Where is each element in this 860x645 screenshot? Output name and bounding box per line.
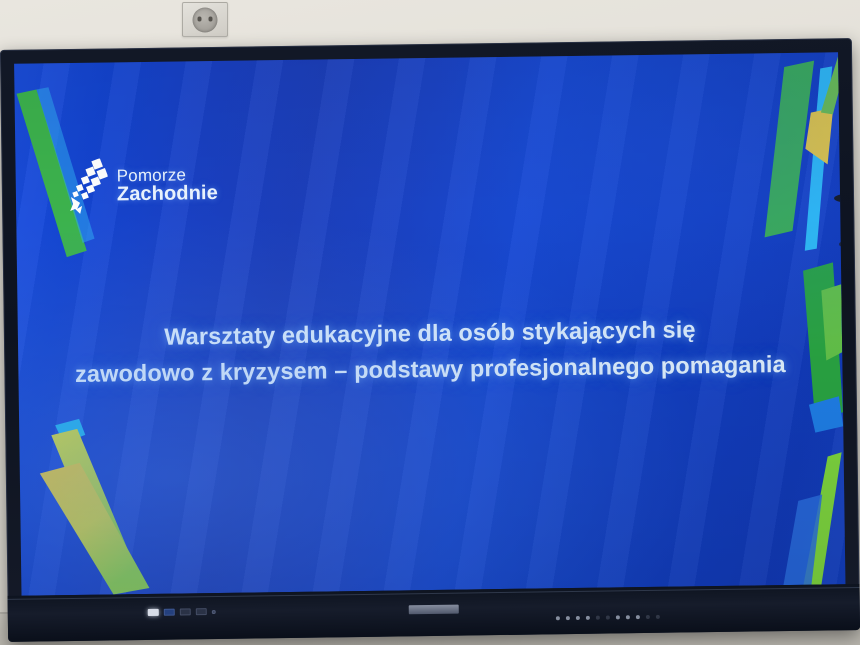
usb-port-icon-2[interactable] bbox=[180, 608, 191, 615]
accent-bottom-right bbox=[782, 452, 844, 585]
accent-bottom-left bbox=[39, 418, 149, 595]
display-led-indicator-row bbox=[556, 615, 660, 620]
outlet-pin-right bbox=[209, 16, 213, 21]
stripe-cyan-bottomleft bbox=[55, 419, 85, 443]
stripe-green-topright bbox=[762, 61, 816, 238]
display-brand-plate bbox=[409, 605, 459, 615]
stripe-yellowgreen-narrow bbox=[51, 428, 141, 591]
outlet-socket-hole bbox=[193, 7, 218, 32]
display-screen[interactable]: Pomorze Zachodnie Warsztaty edukacyjne d… bbox=[14, 52, 845, 595]
display-port-cluster[interactable] bbox=[148, 608, 216, 616]
usb-port-icon[interactable] bbox=[148, 609, 159, 616]
led-indicator bbox=[556, 616, 560, 620]
led-indicator bbox=[586, 616, 590, 620]
led-indicator bbox=[616, 615, 620, 619]
stripe-green-bottomright bbox=[802, 452, 844, 585]
led-indicator bbox=[656, 615, 660, 619]
led-indicator bbox=[646, 615, 650, 619]
logo-wordmark: Pomorze Zachodnie bbox=[117, 166, 218, 205]
wall-power-outlet bbox=[182, 2, 228, 37]
outlet-pin-left bbox=[198, 16, 202, 21]
led-indicator bbox=[626, 615, 630, 619]
led-indicator bbox=[606, 616, 610, 620]
logo-pomorze-zachodnie: Pomorze Zachodnie bbox=[67, 157, 218, 215]
stripe-yellow-topright bbox=[804, 58, 839, 164]
usb-port-icon-3[interactable] bbox=[196, 608, 207, 615]
logo-line-zachodnie: Zachodnie bbox=[117, 183, 218, 205]
hdmi-port-icon[interactable] bbox=[164, 609, 175, 616]
stripe-yellow-wide bbox=[40, 462, 150, 595]
led-indicator bbox=[576, 616, 580, 620]
indicator-dot-icon bbox=[212, 610, 216, 614]
pomorze-zachodnie-griffin-icon bbox=[67, 158, 108, 215]
stripe-lightgreen-topright bbox=[820, 56, 839, 114]
stripe-blue-bottomright bbox=[782, 495, 823, 586]
photo-scene: Pomorze Zachodnie Warsztaty edukacyjne d… bbox=[0, 0, 860, 645]
slide-title: Warsztaty edukacyjne dla osób stykającyc… bbox=[18, 310, 843, 393]
led-indicator bbox=[566, 616, 570, 620]
led-indicator bbox=[636, 615, 640, 619]
accent-top-right bbox=[762, 56, 841, 251]
led-indicator bbox=[596, 616, 600, 620]
interactive-display[interactable]: Pomorze Zachodnie Warsztaty edukacyjne d… bbox=[0, 38, 860, 642]
stripe-cyan-topright bbox=[802, 66, 835, 250]
stripe-blue-rightmid bbox=[809, 396, 843, 432]
